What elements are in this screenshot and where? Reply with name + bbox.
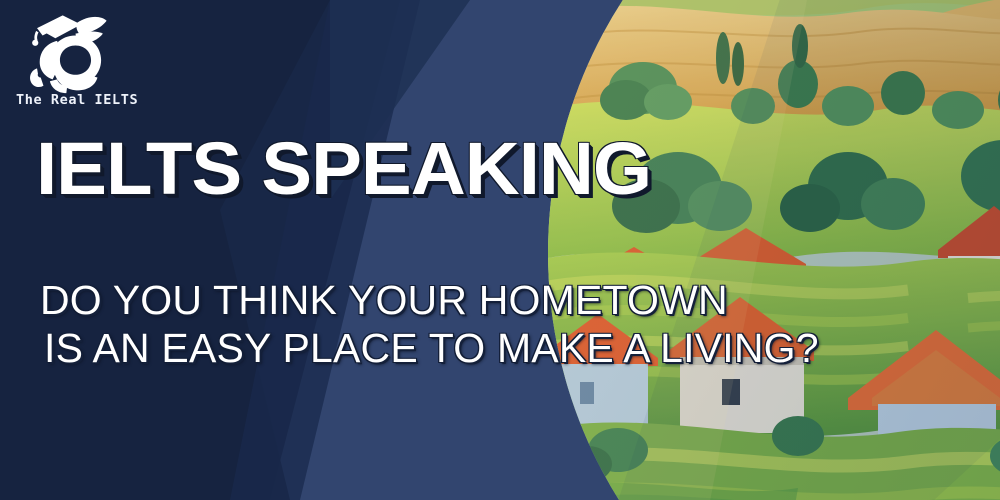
page-title: IELTS SPEAKING [36,134,651,204]
graduate-figure-icon [24,8,116,94]
subtitle-line-2: IS AN EASY PLACE TO MAKE A LIVING? [40,324,819,372]
question-subtitle: DO YOU THINK YOUR HOMETOWN IS AN EASY PL… [40,276,819,373]
ielts-speaking-banner: The Real IELTS IELTS SPEAKING DO YOU THI… [0,0,1000,500]
subtitle-line-1: DO YOU THINK YOUR HOMETOWN [40,276,819,324]
the-real-ielts-logo[interactable]: The Real IELTS [14,8,174,108]
rural-countryside-village-illustration [548,0,1000,500]
logo-brand-text: The Real IELTS [14,92,174,108]
illustration-circle-mask [548,0,1000,500]
